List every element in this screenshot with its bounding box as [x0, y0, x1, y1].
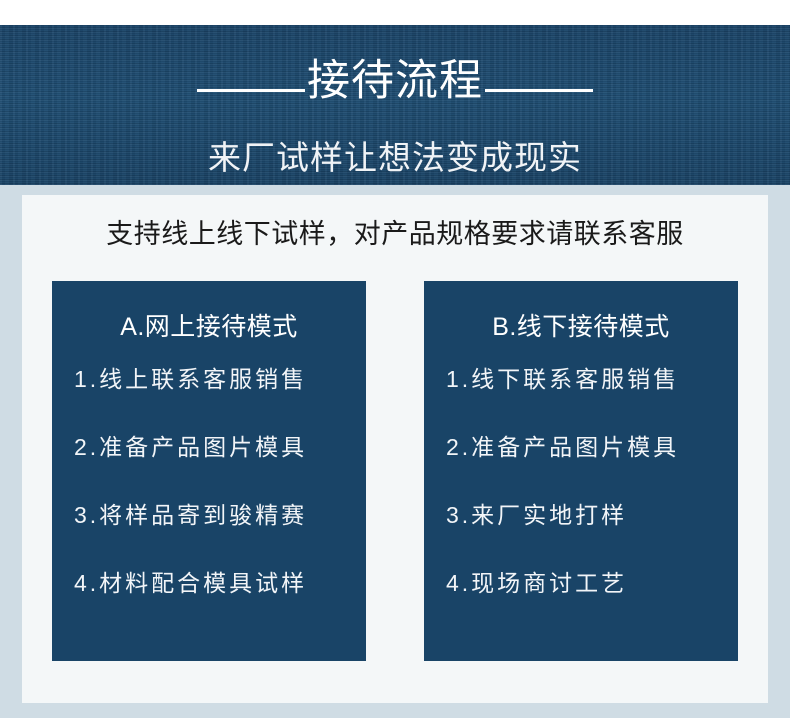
list-item: 2.准备产品图片模具: [74, 436, 366, 459]
card-group: A.网上接待模式 1.线上联系客服销售 2.准备产品图片模具 3.将样品寄到骏精…: [52, 281, 738, 661]
list-item: 4.现场商讨工艺: [446, 572, 738, 595]
card-step-list: 1.线上联系客服销售 2.准备产品图片模具 3.将样品寄到骏精赛 4.材料配合模…: [52, 368, 366, 661]
list-item: 3.来厂实地打样: [446, 504, 738, 527]
list-item: 3.将样品寄到骏精赛: [74, 504, 366, 527]
list-item: 1.线下联系客服销售: [446, 368, 738, 391]
page-subtitle: 来厂试样让想法变成现实: [0, 138, 790, 178]
content-area: 支持线上线下试样，对产品规格要求请联系客服 A.网上接待模式 1.线上联系客服销…: [0, 185, 790, 718]
banner-title-row: 接待流程: [0, 69, 790, 112]
title-rule-right-icon: [485, 89, 593, 92]
page-title: 接待流程: [305, 60, 485, 103]
list-item: 2.准备产品图片模具: [446, 436, 738, 459]
list-item: 4.材料配合模具试样: [74, 572, 366, 595]
page-banner: 接待流程 来厂试样让想法变成现实: [0, 25, 790, 185]
banner-inner: 接待流程 来厂试样让想法变成现实: [0, 25, 790, 185]
content-panel: 支持线上线下试样，对产品规格要求请联系客服 A.网上接待模式 1.线上联系客服销…: [22, 195, 768, 703]
card-title: A.网上接待模式: [52, 315, 366, 340]
title-rule-left-icon: [197, 89, 305, 92]
list-item: 1.线上联系客服销售: [74, 368, 366, 391]
promo-page: 接待流程 来厂试样让想法变成现实 支持线上线下试样，对产品规格要求请联系客服 A…: [0, 0, 790, 718]
card-online-mode: A.网上接待模式 1.线上联系客服销售 2.准备产品图片模具 3.将样品寄到骏精…: [52, 281, 366, 661]
lead-text: 支持线上线下试样，对产品规格要求请联系客服: [22, 217, 768, 252]
card-title: B.线下接待模式: [424, 315, 738, 340]
card-step-list: 1.线下联系客服销售 2.准备产品图片模具 3.来厂实地打样 4.现场商讨工艺: [424, 368, 738, 661]
card-offline-mode: B.线下接待模式 1.线下联系客服销售 2.准备产品图片模具 3.来厂实地打样 …: [424, 281, 738, 661]
